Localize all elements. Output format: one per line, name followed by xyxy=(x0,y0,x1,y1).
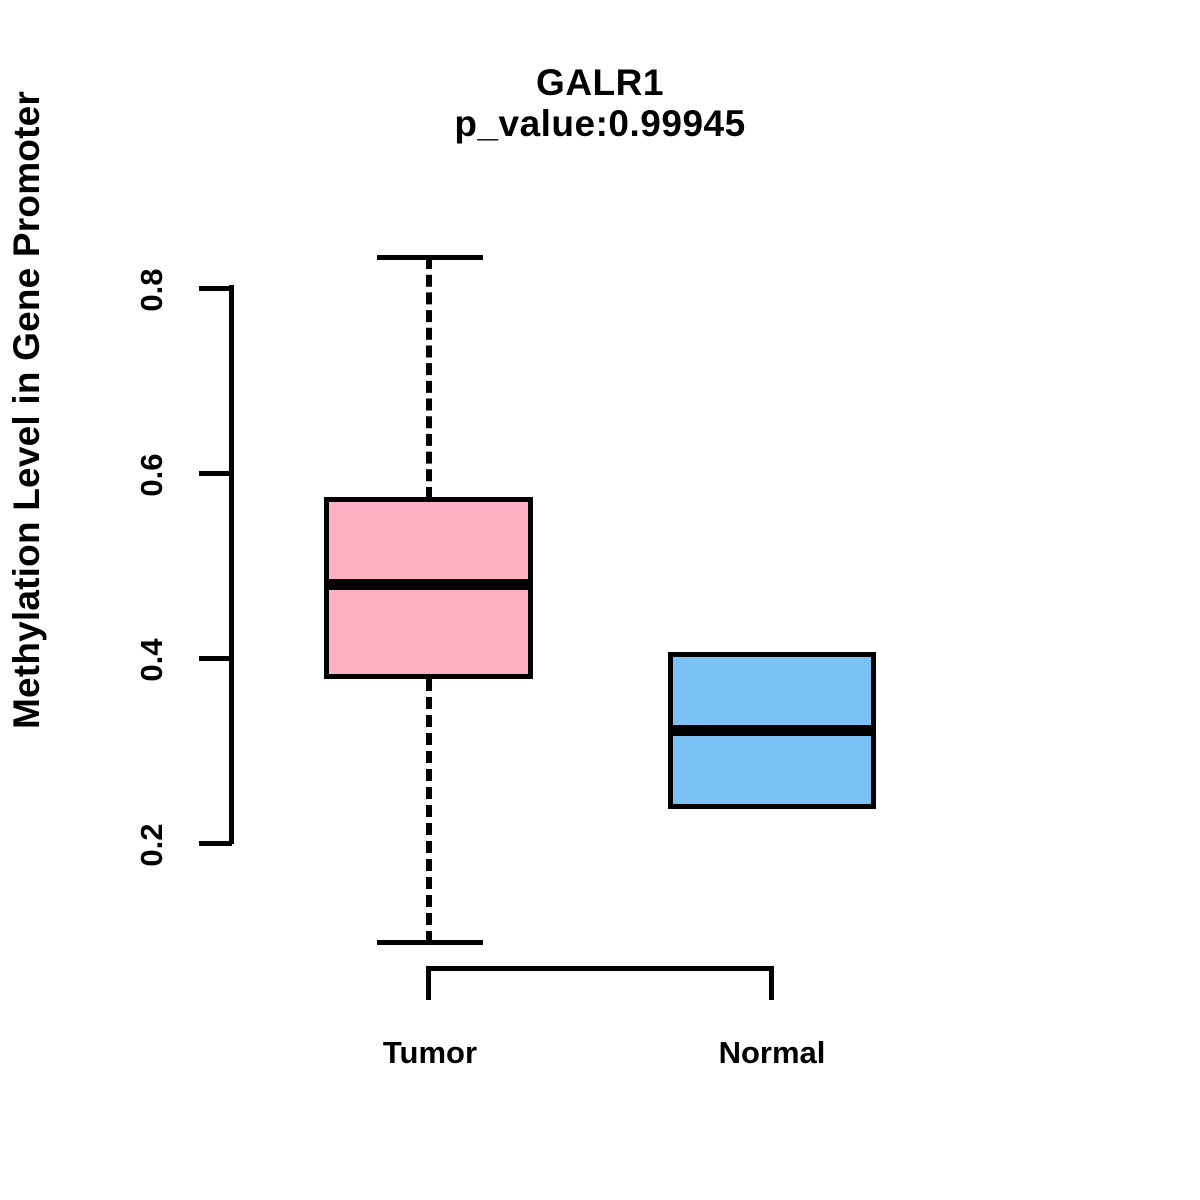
x-axis-label-tumor: Tumor xyxy=(300,1035,560,1071)
y-axis-tick-0.2 xyxy=(199,841,232,846)
chart-title-block: GALR1 p_value:0.99945 xyxy=(0,62,1200,145)
x-axis-tick-normal xyxy=(769,966,774,1000)
chart-subtitle-pvalue: p_value:0.99945 xyxy=(0,103,1200,144)
normal-median-line xyxy=(668,725,876,736)
y-axis-label-0.8: 0.8 xyxy=(134,245,170,335)
tumor-lower-whisker-cap xyxy=(377,940,483,945)
chart-title: GALR1 xyxy=(0,62,1200,103)
x-axis-line xyxy=(426,966,774,971)
tumor-upper-whisker xyxy=(426,257,432,499)
x-axis-label-normal: Normal xyxy=(642,1035,902,1071)
y-axis-label-0.4: 0.4 xyxy=(134,615,170,705)
boxplot-canvas: GALR1 p_value:0.99945 Methylation Level … xyxy=(0,0,1200,1200)
y-axis-tick-0.8 xyxy=(199,286,232,291)
y-axis-line xyxy=(229,285,234,844)
tumor-lower-whisker xyxy=(426,679,432,943)
y-axis-label-0.6: 0.6 xyxy=(134,430,170,520)
y-axis-title: Methylation Level in Gene Promoter xyxy=(6,0,66,1010)
tumor-upper-whisker-cap xyxy=(377,255,483,260)
y-axis-label-0.2: 0.2 xyxy=(134,800,170,890)
y-axis-tick-0.4 xyxy=(199,656,232,661)
y-axis-tick-0.6 xyxy=(199,471,232,476)
x-axis-tick-tumor xyxy=(426,966,431,1000)
tumor-median-line xyxy=(324,579,533,590)
